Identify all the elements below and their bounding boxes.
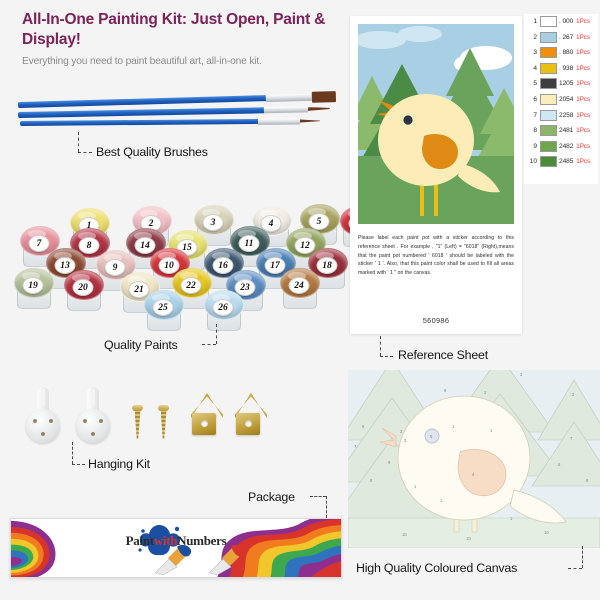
leader-horizontal	[72, 464, 85, 465]
legend-index: 10	[524, 158, 537, 165]
hook-hole	[91, 432, 95, 436]
canvas-leader	[568, 546, 588, 572]
legend-index: 7	[524, 112, 537, 119]
triangle-hanger	[190, 393, 218, 435]
hook-hole	[33, 419, 37, 423]
brush-handle	[18, 95, 266, 108]
page-title: All-In-One Painting Kit: Just Open, Pain…	[22, 10, 352, 50]
brand-part-paint: Paint	[126, 533, 154, 548]
legend-row-4: 4. 9381Pcs	[524, 61, 590, 76]
legend-pcs: 1Pcs	[576, 49, 590, 56]
brush-bristle-fine	[300, 119, 320, 122]
color-legend: 1. 0001Pcs2. 2671Pcs3. 8801Pcs4. 9381Pcs…	[524, 14, 598, 184]
legend-swatch	[540, 125, 557, 136]
hanging-hook	[76, 387, 110, 443]
legend-swatch	[540, 32, 557, 43]
legend-pcs: 1Pcs	[576, 80, 590, 87]
leader-vertical	[326, 496, 327, 518]
callout-brushes: Best Quality Brushes	[96, 145, 208, 159]
legend-row-9: 924821Pcs	[524, 139, 590, 154]
hook-hole	[49, 419, 53, 423]
leader-vertical	[380, 336, 381, 356]
legend-pcs: 1Pcs	[576, 158, 590, 165]
legend-index: 1	[524, 18, 537, 25]
legend-code: . 938	[559, 65, 573, 72]
leader-horizontal	[78, 152, 92, 153]
legend-code: . 880	[559, 49, 573, 56]
leader-horizontal	[310, 496, 326, 497]
legend-swatch	[540, 110, 557, 121]
hanging-kit-group	[22, 385, 292, 455]
legend-pcs: 1Pcs	[576, 112, 590, 119]
legend-index: 4	[524, 65, 537, 72]
hook-notch	[91, 389, 95, 406]
legend-code: 2054	[559, 96, 573, 103]
hook-hole	[41, 432, 45, 436]
hook-hole	[83, 419, 87, 423]
legend-code: . 267	[559, 34, 573, 41]
screw-shaft	[161, 410, 167, 439]
pot-number: 26	[213, 299, 234, 316]
svg-text:10: 10	[544, 530, 549, 535]
legend-code: 2482	[559, 143, 573, 150]
legend-row-1: 1. 0001Pcs	[524, 14, 590, 29]
paint-pots-group: 1234567814151112139101617181920212223242…	[8, 190, 348, 330]
legend-index: 8	[524, 127, 537, 134]
reference-bird-illustration	[358, 24, 514, 224]
leader-vertical	[216, 324, 217, 344]
legend-code: 1205	[559, 80, 573, 87]
rainbow-swirl-left	[10, 518, 135, 578]
legend-swatch	[540, 16, 557, 27]
legend-pcs: 1Pcs	[576, 34, 590, 41]
brush-bristle-round	[308, 107, 330, 111]
infographic-root: All-In-One Painting Kit: Just Open, Pain…	[0, 0, 600, 600]
package-brush-red-icon	[207, 543, 247, 575]
brush-fine	[20, 118, 320, 126]
legend-index: 2	[524, 34, 537, 41]
hanger-plate	[192, 413, 216, 435]
canvas-outline-illustration: 533 411 111 989 778 222 101010 66	[348, 370, 600, 548]
legend-pcs: 1Pcs	[576, 127, 590, 134]
legend-row-5: 512051Pcs	[524, 76, 590, 91]
leader-vertical	[78, 132, 79, 152]
callout-hanging: Hanging Kit	[88, 457, 150, 471]
callout-package: Package	[248, 490, 295, 504]
legend-row-6: 620541Pcs	[524, 92, 590, 107]
brush-ferrule	[264, 106, 308, 113]
legend-row-10: 1024851Pcs	[524, 154, 590, 169]
legend-swatch	[540, 141, 557, 152]
legend-row-7: 722581Pcs	[524, 108, 590, 123]
paint-pot-25: 25	[144, 290, 182, 330]
pot-number: 20	[73, 279, 94, 296]
hanging-hook	[26, 387, 60, 443]
legend-swatch	[540, 94, 557, 105]
legend-pcs: 1Pcs	[576, 65, 590, 72]
legend-pcs: 1Pcs	[576, 143, 590, 150]
paint-pot-19: 19	[14, 268, 52, 308]
legend-code: 2258	[559, 112, 573, 119]
legend-pcs: 1Pcs	[576, 96, 590, 103]
legend-code: 2481	[559, 127, 573, 134]
legend-swatch	[540, 156, 557, 167]
page-subtitle: Everything you need to paint beautiful a…	[22, 56, 352, 69]
leader-horizontal	[568, 568, 582, 569]
hook-hole	[99, 419, 103, 423]
screw	[158, 405, 169, 439]
legend-pcs: 1Pcs	[576, 18, 590, 25]
package-leader	[310, 496, 334, 520]
pot-number: 3	[203, 214, 224, 231]
leader-horizontal	[202, 344, 216, 345]
brush-medium	[18, 106, 330, 117]
legend-code: 2485	[559, 158, 573, 165]
leader-horizontal	[380, 356, 393, 357]
hook-notch	[41, 389, 45, 406]
brushes-group	[18, 88, 348, 146]
package-box: PaintwithNumbers	[10, 518, 342, 578]
legend-row-8: 824811Pcs	[524, 123, 590, 138]
legend-swatch	[540, 78, 557, 89]
paint-pot-24: 24	[280, 268, 318, 308]
legend-index: 9	[524, 143, 537, 150]
reference-instructions: Please label each paint pot with a stick…	[358, 234, 514, 278]
legend-index: 5	[524, 80, 537, 87]
legend-index: 6	[524, 96, 537, 103]
reference-artwork	[358, 24, 514, 224]
leader-vertical	[582, 546, 583, 568]
coloured-canvas: 533 411 111 989 778 222 101010 66	[348, 370, 600, 548]
paints-leader	[202, 324, 222, 346]
legend-row-2: 2. 2671Pcs	[524, 30, 590, 45]
brush-handle	[18, 107, 264, 117]
reference-sheet-number: 560986	[350, 316, 522, 325]
hook-disc	[26, 409, 60, 443]
pot-number: 25	[153, 299, 174, 316]
hook-disc	[76, 409, 110, 443]
header: All-In-One Painting Kit: Just Open, Pain…	[22, 10, 352, 68]
brush-bristle-flat	[312, 91, 336, 103]
callout-reference: Reference Sheet	[398, 348, 488, 362]
legend-code: . 000	[559, 18, 573, 25]
pot-number: 18	[317, 257, 338, 274]
pot-number: 19	[23, 277, 44, 294]
package-brush-blue-icon	[153, 543, 193, 575]
brush-ferrule	[258, 118, 300, 124]
reference-sheet-panel: Please label each paint pot with a stick…	[350, 16, 522, 334]
screw-head	[158, 405, 169, 411]
paint-pot-20: 20	[64, 270, 102, 310]
triangle-hanger	[234, 393, 262, 435]
callout-canvas: High Quality Coloured Canvas	[356, 561, 517, 575]
pot-number: 24	[289, 277, 310, 294]
legend-swatch	[540, 47, 557, 58]
hanger-plate	[236, 413, 260, 435]
legend-index: 3	[524, 49, 537, 56]
screw	[132, 405, 143, 439]
svg-text:10: 10	[466, 536, 471, 541]
callout-paints: Quality Paints	[104, 338, 178, 352]
reference-leader	[380, 336, 400, 358]
screw-head	[132, 405, 143, 411]
brush-ferrule	[266, 93, 312, 101]
svg-text:10: 10	[402, 532, 407, 537]
leader-vertical	[72, 442, 73, 464]
pot-number: 22	[181, 277, 202, 294]
legend-row-3: 3. 8801Pcs	[524, 45, 590, 60]
brush-handle	[20, 119, 258, 126]
screw-shaft	[135, 410, 141, 439]
legend-swatch	[540, 63, 557, 74]
